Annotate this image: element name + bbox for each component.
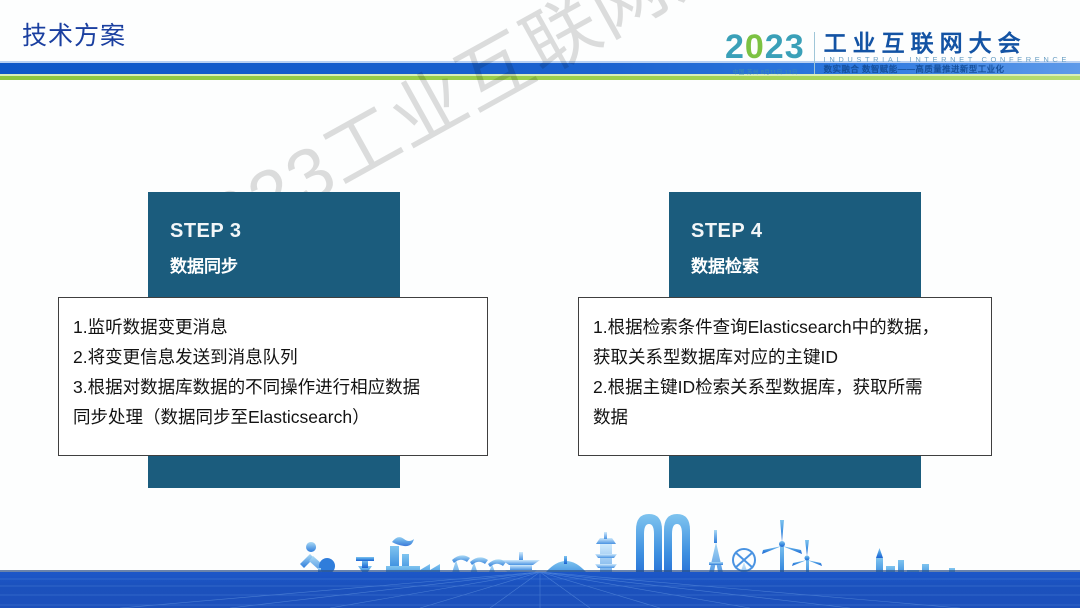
logo-name-cn: 工业互联网大会 [824, 31, 1070, 55]
logo-year-digit-3: 2 [765, 30, 785, 64]
step-4-detail-card: 1.根据检索条件查询Elasticsearch中的数据， 获取关系型数据库对应的… [578, 297, 992, 456]
logo-year: 2023 [725, 30, 805, 64]
logo-year-digit-4: 3 [785, 30, 805, 64]
step-4-line-3: 2.根据主键ID检索关系型数据库，获取所需 [593, 372, 977, 402]
page-title: 技术方案 [22, 16, 126, 52]
ground-grid [0, 572, 1080, 608]
step-3-line-2: 2.将变更信息发送到消息队列 [73, 342, 473, 372]
logo-text-block: 工业互联网大会 INDUSTRIAL INTERNET CONFERENCE 数… [824, 31, 1070, 76]
slide-canvas: 技术方案 2023 中国·苏州 8月11日-13日 工业互联网大会 INDUST… [0, 0, 1080, 608]
logo-year-digit-2: 0 [745, 30, 765, 64]
step-3-detail-card: 1.监听数据变更消息 2.将变更信息发送到消息队列 3.根据对数据库数据的不同操… [58, 297, 488, 456]
step-3-line-1: 1.监听数据变更消息 [73, 312, 473, 342]
footer-skyline-decoration [0, 500, 1080, 608]
logo-year-block: 2023 中国·苏州 8月11日-13日 [725, 30, 814, 76]
step-3-title: 数据同步 [170, 252, 238, 277]
step-3-label: STEP 3 [170, 220, 242, 243]
step-4-line-2: 获取关系型数据库对应的主键ID [593, 342, 977, 372]
step-4-lines: 1.根据检索条件查询Elasticsearch中的数据， 获取关系型数据库对应的… [579, 298, 991, 432]
step-3-lines: 1.监听数据变更消息 2.将变更信息发送到消息队列 3.根据对数据库数据的不同操… [59, 298, 487, 432]
logo-year-digit-1: 2 [725, 30, 745, 64]
logo-date-line: 中国·苏州 8月11日-13日 [732, 67, 797, 76]
logo-name-en: INDUSTRIAL INTERNET CONFERENCE [824, 55, 1070, 65]
step-4-line-4: 数据 [593, 402, 977, 432]
step-4-line-1: 1.根据检索条件查询Elasticsearch中的数据， [593, 312, 977, 342]
step-3-line-4: 同步处理（数据同步至Elasticsearch） [73, 402, 473, 432]
conference-logo: 2023 中国·苏州 8月11日-13日 工业互联网大会 INDUSTRIAL … [725, 26, 1070, 80]
logo-separator [814, 32, 815, 74]
step-3-line-3: 3.根据对数据库数据的不同操作进行相应数据 [73, 372, 473, 402]
logo-subtitle: 数实融合 数智赋能——高质量推进新型工业化 [824, 64, 1070, 75]
step-4-title: 数据检索 [691, 252, 759, 277]
step-4-label: STEP 4 [691, 220, 763, 243]
